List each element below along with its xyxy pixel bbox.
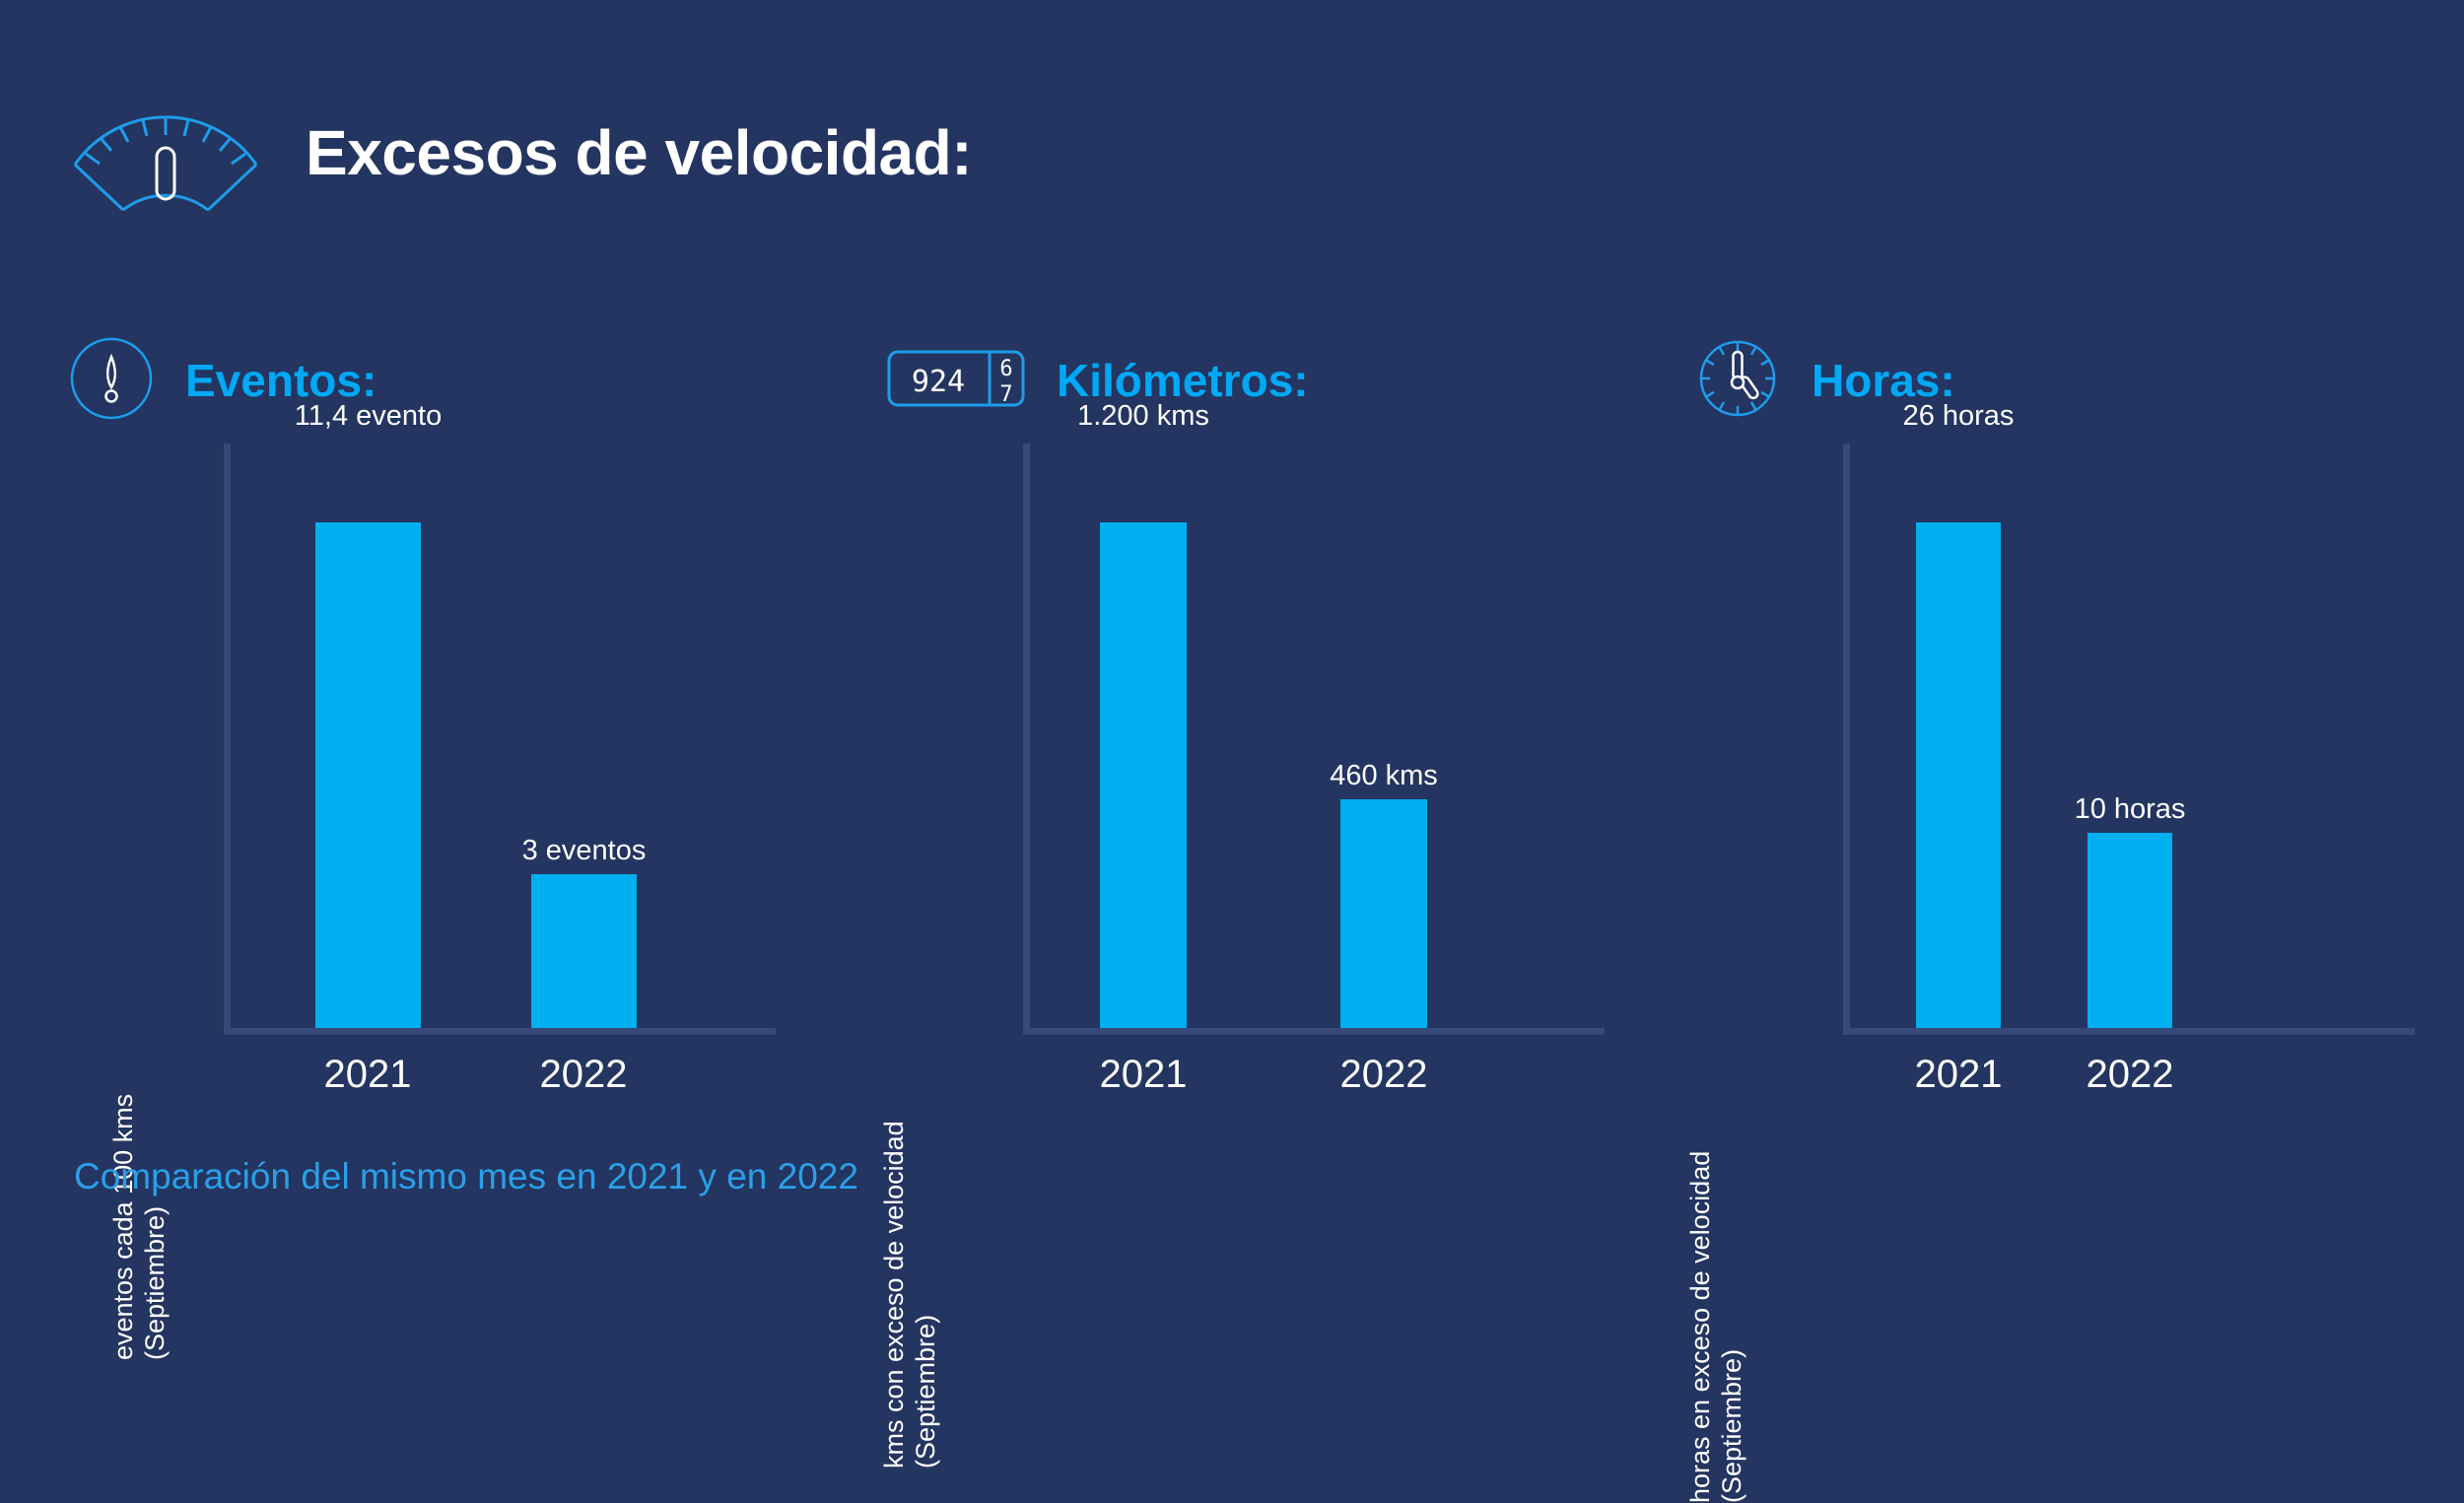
- chart-horas-x-axis: [1843, 1028, 2415, 1035]
- svg-text:7: 7: [999, 382, 1012, 407]
- x-tick-kilometros-2021: 2021: [1045, 1055, 1242, 1094]
- bar-value-kilometros-2021: 1.200 kms: [1045, 402, 1242, 431]
- bar-value-eventos-2022: 3 eventos: [482, 837, 686, 865]
- bar-value-horas-2021: 26 horas: [1860, 402, 2057, 431]
- chart-eventos-plot: 11,4 evento 3 eventos 2021 2022: [224, 444, 776, 1035]
- chart-kilometros-y-axis: [1023, 444, 1030, 1035]
- panel-eventos: Eventos: eventos cada 100 kms (Septiembr…: [69, 335, 818, 1124]
- clock-icon: [1695, 336, 1780, 426]
- bar-kilometros-2021[interactable]: [1100, 522, 1187, 1028]
- chart-eventos: eventos cada 100 kms (Septiembre) 11,4 e…: [69, 444, 818, 1114]
- panel-kilometros-title: Kilómetros:: [1057, 358, 1309, 403]
- chart-horas-y-axis: [1843, 444, 1850, 1035]
- x-tick-horas-2021: 2021: [1860, 1055, 2057, 1094]
- chart-kilometros-chart: kms con exceso de velocidad (Septiembre)…: [887, 444, 1666, 1114]
- svg-text:6: 6: [999, 357, 1012, 381]
- panel-horas-head: Horas:: [1695, 335, 2425, 426]
- panel-horas: Horas: horas en exceso de velocidad (Sep…: [1695, 335, 2425, 1124]
- chart-kilometros-plot: 1.200 kms 460 kms 2021 2022: [1023, 444, 1605, 1035]
- exclamation-circle-icon: [69, 336, 154, 426]
- footnote: Comparación del mismo mes en 2021 y en 2…: [74, 1158, 858, 1195]
- x-tick-eventos-2021: 2021: [269, 1055, 466, 1094]
- bar-horas-2022[interactable]: [2088, 833, 2172, 1028]
- bar-eventos-2021[interactable]: [315, 522, 421, 1028]
- chart-kilometros-x-axis: [1023, 1028, 1605, 1035]
- panel-horas-title: Horas:: [1812, 358, 1955, 403]
- bar-value-horas-2022: 10 horas: [2031, 795, 2228, 824]
- bar-kilometros-2022[interactable]: [1340, 799, 1427, 1028]
- chart-eventos-x-axis: [224, 1028, 776, 1035]
- x-tick-eventos-2022: 2022: [485, 1055, 682, 1094]
- panel-eventos-title: Eventos:: [185, 358, 376, 403]
- odometer-icon: 924 6 7: [887, 344, 1025, 418]
- chart-eventos-y-axis: [224, 444, 231, 1035]
- bar-horas-2021[interactable]: [1916, 522, 2001, 1028]
- chart-horas-plot: 26 horas 10 horas 2021 2022: [1843, 444, 2415, 1035]
- speedometer-icon: [69, 94, 262, 212]
- chart-horas-y-axis-label: horas en exceso de velocidad (Septiembre…: [1685, 1089, 1745, 1503]
- svg-text:924: 924: [912, 365, 965, 399]
- x-tick-kilometros-2022: 2022: [1285, 1055, 1482, 1094]
- panel-kilometros-head: 924 6 7 Kilómetros:: [887, 335, 1666, 426]
- x-tick-horas-2022: 2022: [2031, 1055, 2228, 1094]
- header: Excesos de velocidad:: [69, 94, 972, 212]
- page-title: Excesos de velocidad:: [306, 121, 972, 184]
- chart-kilometros-y-axis-label: kms con exceso de velocidad (Septiembre): [879, 1074, 938, 1469]
- chart-eventos-y-axis-label: eventos cada 100 kms (Septiembre): [108, 1035, 168, 1360]
- bar-value-eventos-2021: 11,4 evento: [266, 402, 470, 431]
- infographic-canvas: Excesos de velocidad: Eventos: eventos c…: [0, 0, 2464, 1281]
- bar-eventos-2022[interactable]: [531, 874, 637, 1028]
- panel-kilometros: 924 6 7 Kilómetros: kms con exceso de ve…: [887, 335, 1666, 1124]
- bar-value-kilometros-2022: 460 kms: [1285, 762, 1482, 790]
- chart-horas-chart: horas en exceso de velocidad (Septiembre…: [1695, 444, 2425, 1114]
